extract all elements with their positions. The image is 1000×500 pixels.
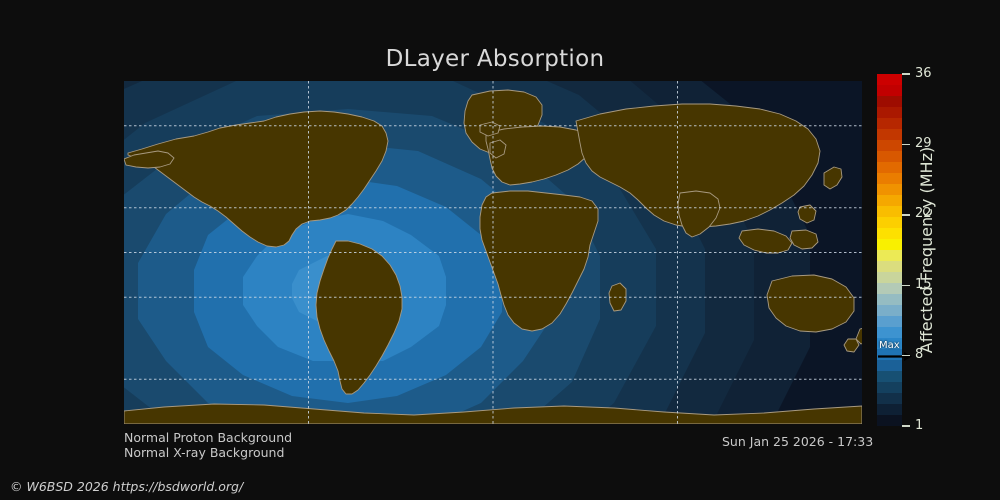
colorbar-band — [877, 316, 902, 327]
colorbar-band — [877, 305, 902, 316]
tick-dash-icon — [902, 285, 910, 286]
colorbar-band — [877, 228, 902, 239]
page-title: DLayer Absorption — [0, 46, 990, 72]
colorbar-band — [877, 261, 902, 272]
tick-dash-icon — [902, 214, 910, 215]
colorbar-band — [877, 338, 902, 349]
colorbar-band — [877, 371, 902, 382]
colorbar-band — [877, 217, 902, 228]
dlayer-absorption-figure: DLayer Absorption — [0, 0, 1000, 500]
timestamp: Sun Jan 25 2026 - 17:33 — [722, 434, 873, 449]
world-map-svg — [124, 81, 862, 424]
copyright-notice: © W6BSD 2026 https://bsdworld.org/ — [10, 479, 243, 494]
colorbar-band — [877, 272, 902, 283]
colorbar-band — [877, 415, 902, 426]
colorbar-band — [877, 239, 902, 250]
tick-dash-icon — [902, 144, 910, 145]
colorbar-band — [877, 151, 902, 162]
colorbar-band — [877, 184, 902, 195]
tick-dash-icon — [902, 355, 910, 356]
colorbar-band — [877, 85, 902, 96]
colorbar-band — [877, 404, 902, 415]
note-proton-background: Normal Proton Background — [124, 430, 292, 445]
colorbar-band — [877, 74, 902, 85]
colorbar-band — [877, 107, 902, 118]
colorbar-band — [877, 118, 902, 129]
tick-dash-icon — [902, 425, 910, 426]
colorbar-band — [877, 349, 902, 360]
colorbar-band — [877, 382, 902, 393]
note-xray-background: Normal X-ray Background — [124, 445, 284, 460]
colorbar-band — [877, 140, 902, 151]
colorbar-band — [877, 250, 902, 261]
colorbar-band — [877, 327, 902, 338]
colorbar-band — [877, 393, 902, 404]
colorbar-band — [877, 294, 902, 305]
colorbar-band — [877, 162, 902, 173]
colorbar-band — [877, 206, 902, 217]
colorbar-band — [877, 195, 902, 206]
colorbar-axis-title: Affected Frequency (MHz) — [913, 74, 939, 426]
world-map-panel[interactable] — [124, 81, 862, 424]
colorbar[interactable] — [877, 74, 902, 426]
colorbar-band — [877, 360, 902, 371]
colorbar-gradient — [877, 74, 902, 426]
colorbar-band — [877, 283, 902, 294]
tick-dash-icon — [902, 73, 910, 74]
colorbar-band — [877, 96, 902, 107]
colorbar-band — [877, 173, 902, 184]
colorbar-band — [877, 129, 902, 140]
